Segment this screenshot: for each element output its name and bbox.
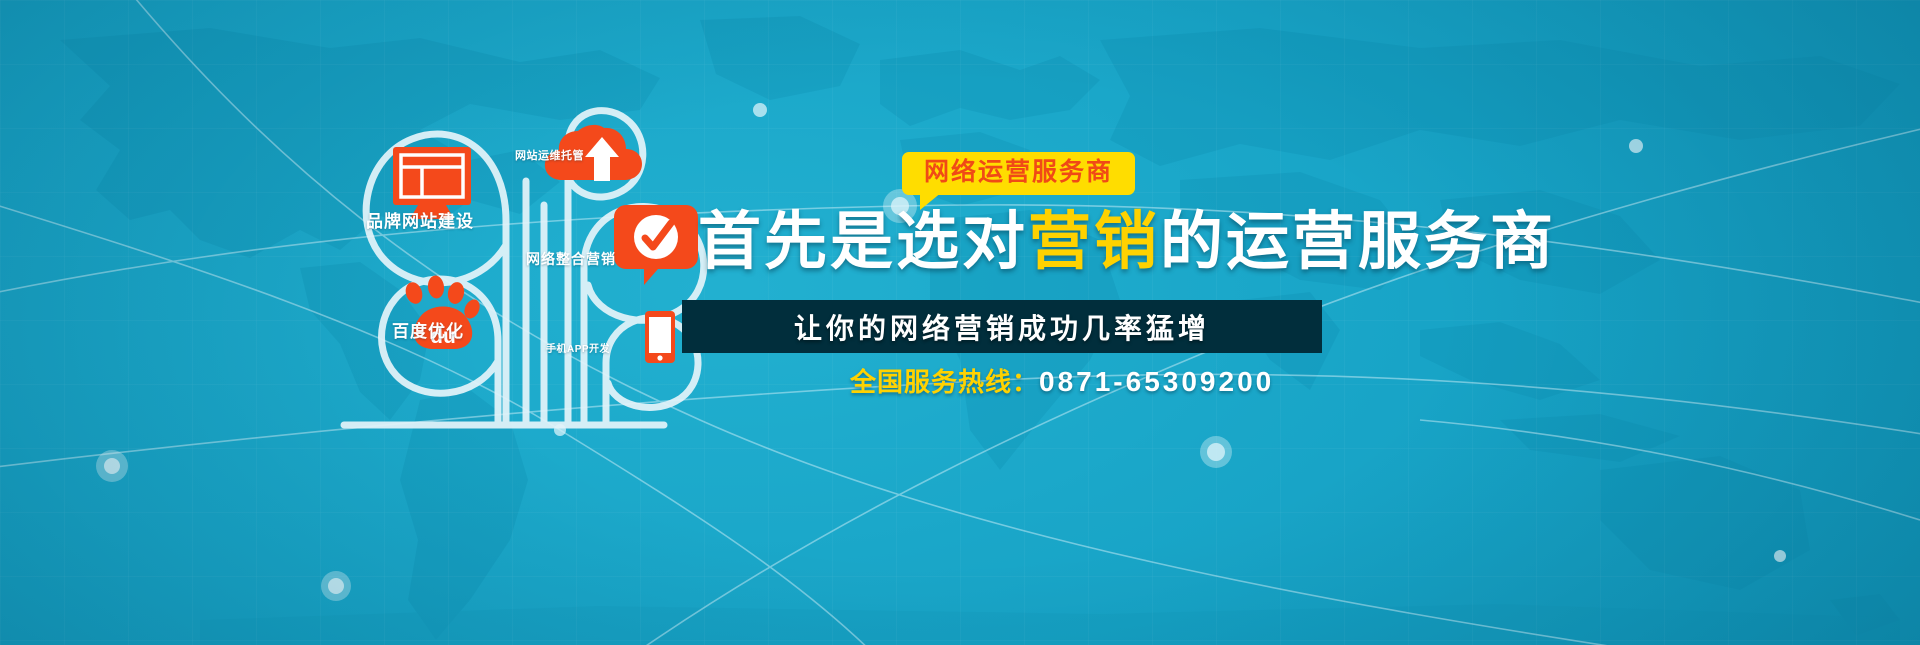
headline-highlight: 营销 bbox=[1028, 207, 1160, 277]
service-badge: 网络运营服务商 bbox=[902, 152, 1135, 195]
headline-part-1: 首先是选对 bbox=[698, 207, 1028, 277]
subtitle-bar: 让你的网络营销成功几率猛增 bbox=[682, 300, 1322, 353]
tree-node-label-integrated-marketing: 网络整合营销 bbox=[526, 249, 616, 269]
smartphone-icon bbox=[645, 311, 675, 363]
hotline-label: 全国服务热线： bbox=[850, 367, 1039, 397]
marketing-banner: du 品牌网站建设 百度优化 网站运维托管 网络 bbox=[0, 0, 1920, 645]
tree-node-label-baidu-seo: 百度优化 bbox=[392, 317, 464, 342]
headline: 首先是选对营销的运营服务商 bbox=[698, 208, 1658, 276]
service-badge-label: 网络运营服务商 bbox=[924, 160, 1113, 185]
hotline: 全国服务热线：0871-65309200 bbox=[850, 362, 1274, 399]
subtitle-text: 让你的网络营销成功几率猛增 bbox=[794, 307, 1210, 347]
headline-part-2: 的运营服务商 bbox=[1160, 207, 1556, 277]
tree-node-label-site-hosting: 网站运维托管 bbox=[515, 147, 584, 163]
hotline-number[interactable]: 0871-65309200 bbox=[1039, 366, 1274, 397]
banner-content: 网络运营服务商 首先是选对营销的运营服务商 让你的网络营销成功几率猛增 全国服务… bbox=[680, 0, 1680, 645]
tree-node-label-app-development: 手机APP开发 bbox=[546, 340, 610, 355]
tree-node-label-brand-website: 品牌网站建设 bbox=[366, 207, 474, 232]
